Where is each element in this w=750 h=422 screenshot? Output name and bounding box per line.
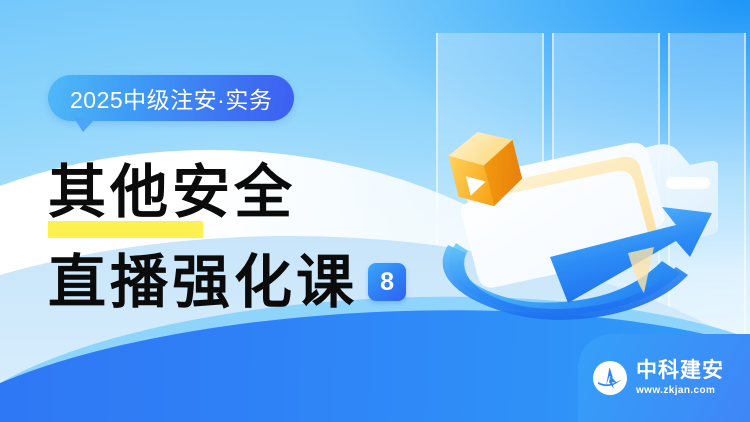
zkjan-circle-logo-icon xyxy=(592,360,628,396)
course-title-line-2-text: 直播强化课 xyxy=(48,253,358,311)
brand-website: www.zkjan.com xyxy=(636,385,724,396)
course-title-line-1: 其他安全 xyxy=(48,163,296,221)
brand-logo-text: 中科建安 www.zkjan.com xyxy=(636,360,724,395)
course-title-line-2: 直播强化课 8 xyxy=(48,253,406,311)
background-pillars xyxy=(430,33,750,363)
background-pillar-2 xyxy=(552,33,660,363)
folder-shape xyxy=(529,144,718,267)
badge-tail-icon xyxy=(74,118,96,132)
arrow-head xyxy=(550,207,712,303)
brand-name: 中科建安 xyxy=(636,360,724,382)
paper-cream xyxy=(467,157,657,274)
brand-logo-panel: 中科建安 www.zkjan.com xyxy=(578,334,750,422)
illustration-folder-refresh xyxy=(418,105,718,335)
course-category-label: 2025中级注安·实务 xyxy=(70,81,272,115)
refresh-ring xyxy=(449,243,680,315)
course-banner: 2025中级注安·实务 其他安全 直播强化课 8 中科建安 www.zkjan.… xyxy=(0,0,750,422)
background-pillar-3 xyxy=(668,33,746,363)
banner-text-block: 2025中级注安·实务 其他安全 直播强化课 8 xyxy=(0,0,460,422)
paper-white-bottom xyxy=(461,171,651,288)
episode-number-badge: 8 xyxy=(368,263,406,301)
paper-white-top xyxy=(475,143,665,260)
course-category-badge: 2025中级注安·实务 xyxy=(48,75,294,121)
